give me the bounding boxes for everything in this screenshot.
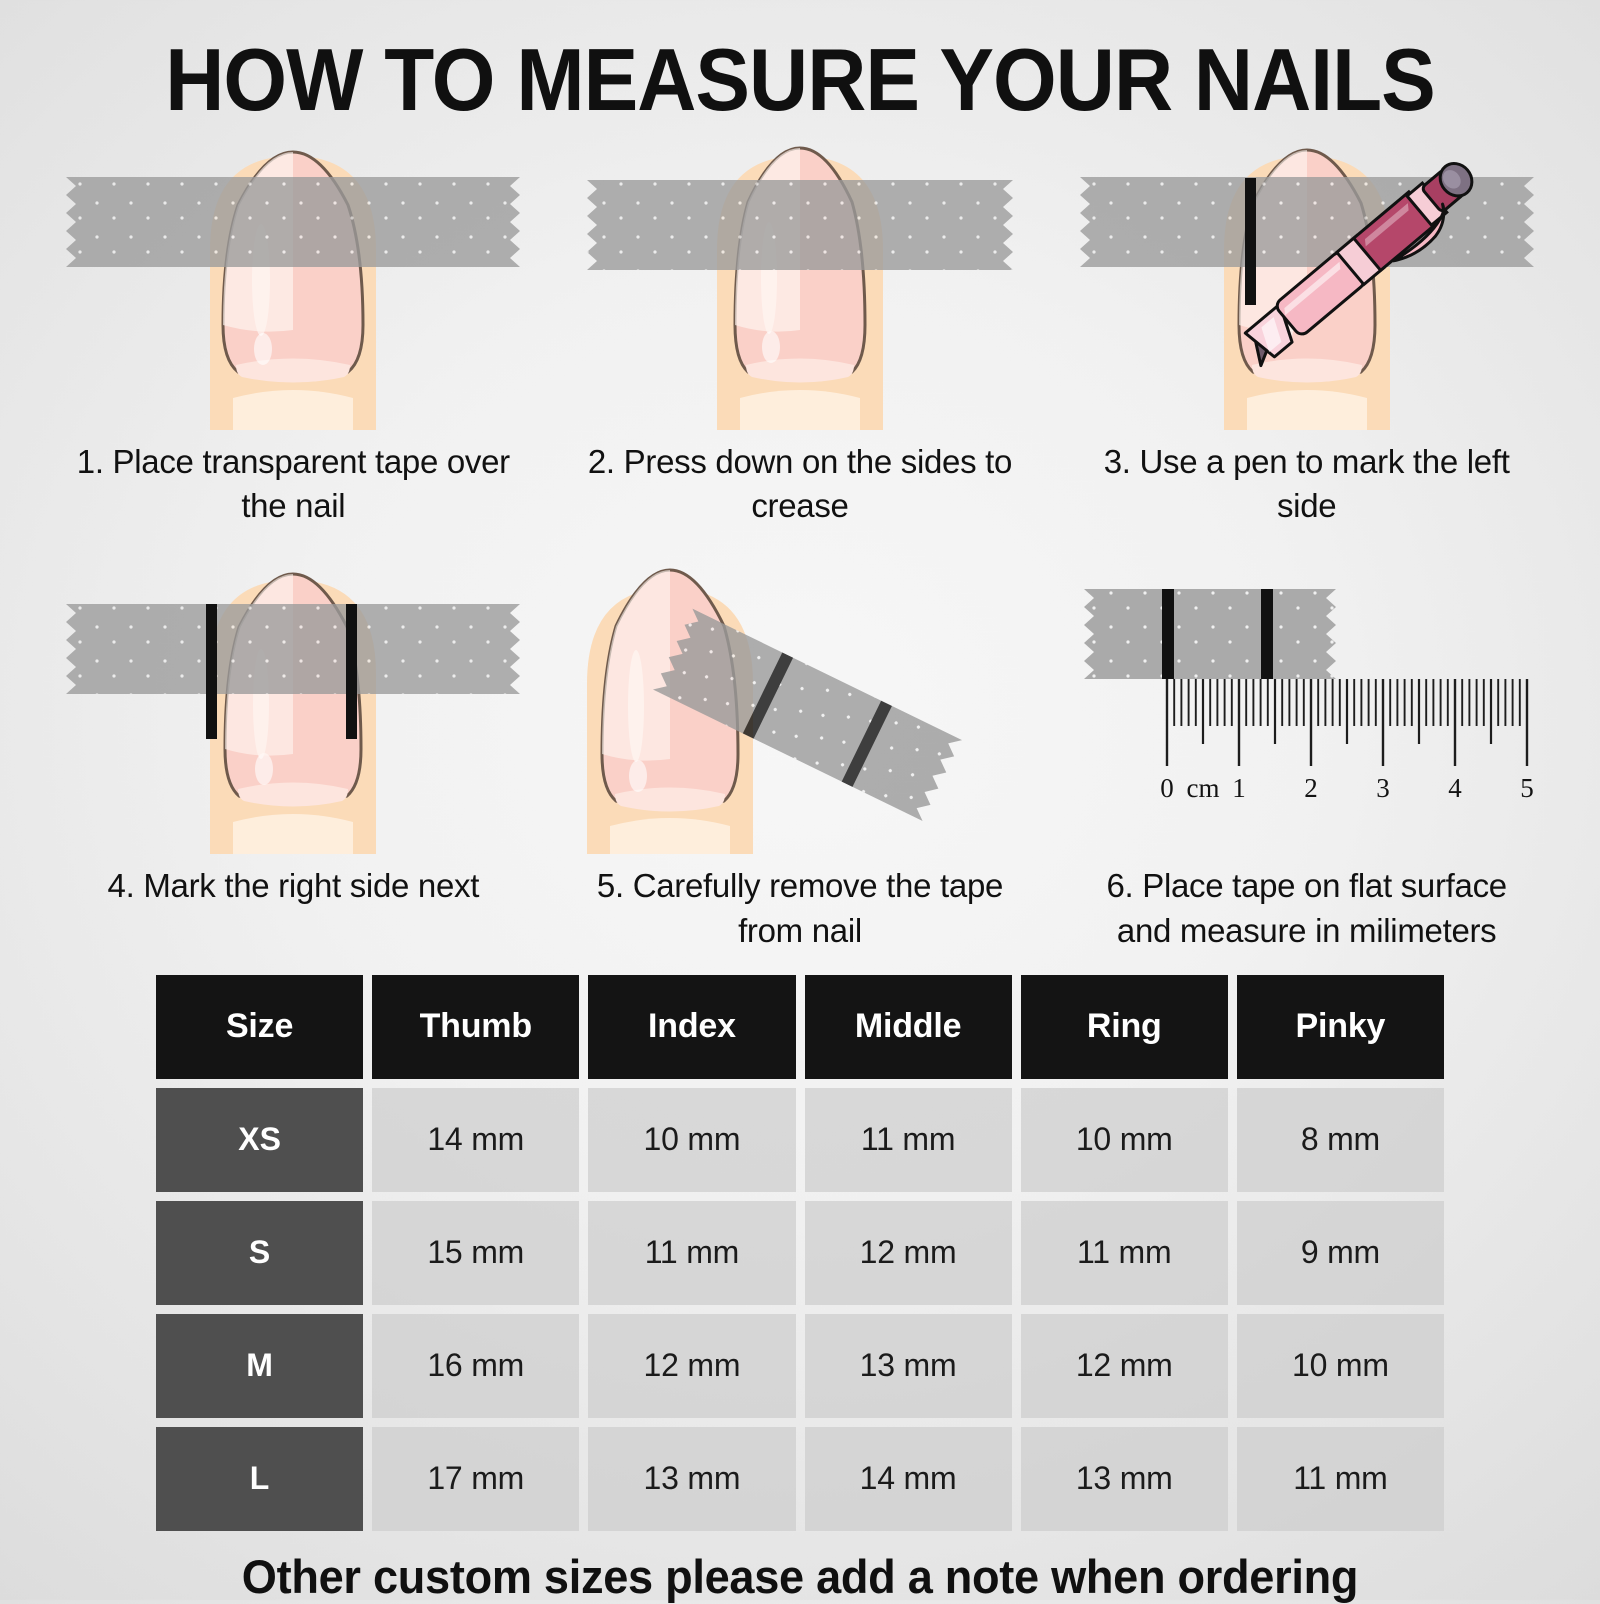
table-row: L 17 mm 13 mm 14 mm 13 mm 11 mm xyxy=(156,1427,1444,1531)
size-chart-table: Size Thumb Index Middle Ring Pinky XS 14… xyxy=(156,975,1444,1531)
table-row: M 16 mm 12 mm 13 mm 12 mm 10 mm xyxy=(156,1314,1444,1418)
step-1: 1. Place transparent tape over the nail xyxy=(40,130,547,528)
step-2: 2. Press down on the sides to crease xyxy=(547,130,1054,528)
step-6-illustration: 0 cm 1 2 3 4 5 xyxy=(1072,554,1542,854)
ruler-label-4: 4 xyxy=(1448,773,1462,803)
size-label: XS xyxy=(156,1088,363,1192)
size-label: L xyxy=(156,1427,363,1531)
step-4-caption: 4. Mark the right side next xyxy=(108,864,480,908)
left-mark xyxy=(1245,178,1256,305)
cell-middle: 12 mm xyxy=(805,1201,1012,1305)
ruler-label-2: 2 xyxy=(1304,773,1318,803)
cell-ring: 13 mm xyxy=(1021,1427,1228,1531)
step-1-illustration xyxy=(58,130,528,430)
cell-ring: 11 mm xyxy=(1021,1201,1228,1305)
ruler-labels: 0 cm 1 2 3 4 5 xyxy=(1160,773,1534,803)
step-2-caption: 2. Press down on the sides to crease xyxy=(580,440,1020,528)
cell-pinky: 10 mm xyxy=(1237,1314,1444,1418)
column-header-middle: Middle xyxy=(805,975,1012,1079)
tape-strip-creased xyxy=(587,180,1013,270)
cell-index: 13 mm xyxy=(588,1427,795,1531)
ruler-label-1: 1 xyxy=(1232,773,1246,803)
step-6-caption: 6. Place tape on flat surface and measur… xyxy=(1087,864,1527,952)
cell-middle: 11 mm xyxy=(805,1088,1012,1192)
left-mark xyxy=(206,604,217,739)
steps-grid: 1. Place transparent tape over the nail xyxy=(0,130,1600,953)
ruler-unit-label: cm xyxy=(1186,773,1219,803)
cell-pinky: 9 mm xyxy=(1237,1201,1444,1305)
cell-middle: 13 mm xyxy=(805,1314,1012,1418)
step-5: 5. Carefully remove the tape from nail xyxy=(547,554,1054,952)
tape-strip xyxy=(66,604,520,694)
cell-middle: 14 mm xyxy=(805,1427,1012,1531)
ruler-label-0: 0 xyxy=(1160,773,1174,803)
right-mark xyxy=(1261,589,1273,679)
cell-ring: 10 mm xyxy=(1021,1088,1228,1192)
column-header-index: Index xyxy=(588,975,795,1079)
size-label: M xyxy=(156,1314,363,1418)
step-4-illustration xyxy=(58,554,528,854)
cell-thumb: 14 mm xyxy=(372,1088,579,1192)
left-mark xyxy=(1162,589,1174,679)
cell-pinky: 8 mm xyxy=(1237,1088,1444,1192)
step-5-caption: 5. Carefully remove the tape from nail xyxy=(580,864,1020,952)
size-label: S xyxy=(156,1201,363,1305)
footer-note: Other custom sizes please add a note whe… xyxy=(32,1549,1568,1604)
step-3-caption: 3. Use a pen to mark the left side xyxy=(1087,440,1527,528)
step-6: 0 cm 1 2 3 4 5 6. Place tape on flat sur… xyxy=(1053,554,1560,952)
table-row: S 15 mm 11 mm 12 mm 11 mm 9 mm xyxy=(156,1201,1444,1305)
tape-on-ruler xyxy=(1084,589,1336,679)
cell-index: 11 mm xyxy=(588,1201,795,1305)
step-1-caption: 1. Place transparent tape over the nail xyxy=(73,440,513,528)
cell-thumb: 17 mm xyxy=(372,1427,579,1531)
step-2-illustration xyxy=(565,130,1035,430)
step-4: 4. Mark the right side next xyxy=(40,554,547,952)
ruler-label-5: 5 xyxy=(1520,773,1534,803)
column-header-pinky: Pinky xyxy=(1237,975,1444,1079)
page-title: HOW TO MEASURE YOUR NAILS xyxy=(56,0,1544,124)
column-header-ring: Ring xyxy=(1021,975,1228,1079)
step-3: 3. Use a pen to mark the left side xyxy=(1053,130,1560,528)
cell-thumb: 15 mm xyxy=(372,1201,579,1305)
right-mark xyxy=(346,604,357,739)
cell-index: 12 mm xyxy=(588,1314,795,1418)
ruler-label-3: 3 xyxy=(1376,773,1390,803)
step-3-illustration xyxy=(1072,130,1542,430)
cell-ring: 12 mm xyxy=(1021,1314,1228,1418)
ruler-ticks xyxy=(1167,679,1527,766)
cell-thumb: 16 mm xyxy=(372,1314,579,1418)
cell-index: 10 mm xyxy=(588,1088,795,1192)
column-header-thumb: Thumb xyxy=(372,975,579,1079)
tape-strip xyxy=(66,177,520,267)
cell-pinky: 11 mm xyxy=(1237,1427,1444,1531)
column-header-size: Size xyxy=(156,975,363,1079)
step-5-illustration xyxy=(565,554,1035,854)
table-header-row: Size Thumb Index Middle Ring Pinky xyxy=(156,975,1444,1079)
table-row: XS 14 mm 10 mm 11 mm 10 mm 8 mm xyxy=(156,1088,1444,1192)
